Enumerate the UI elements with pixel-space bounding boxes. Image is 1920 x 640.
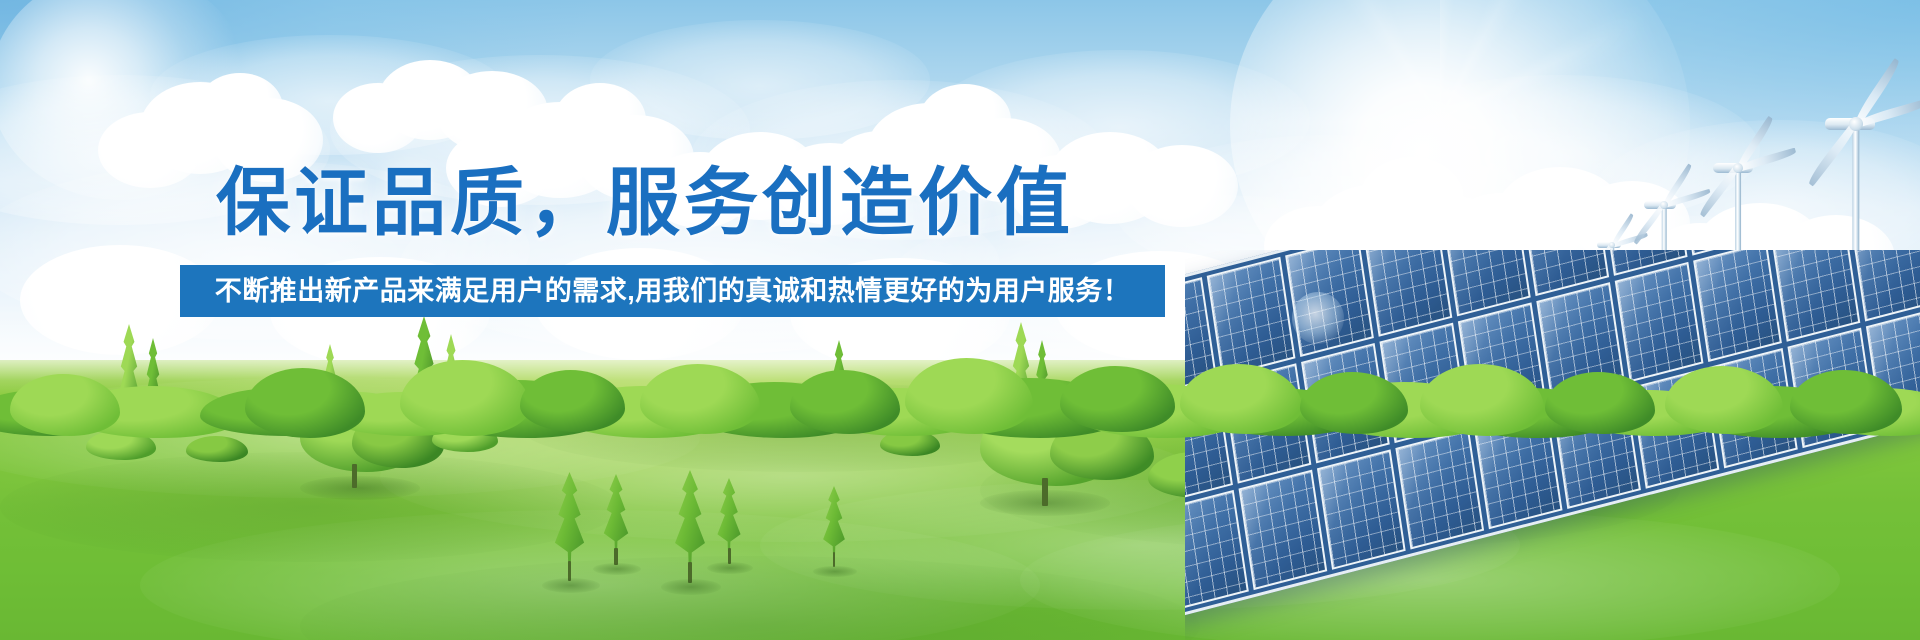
solar-panel-cell: [1615, 262, 1704, 382]
tree-canopy: [10, 374, 120, 436]
plant-shadow: [593, 563, 641, 576]
subtitle-bar: 不断推出新产品来满足用户的需求,用我们的真诚和热情更好的为用户服务！: [180, 265, 1165, 317]
plant-shadow: [813, 566, 857, 577]
solar-lens-flare-icon: [1292, 292, 1344, 344]
solar-panel-cell: [1207, 257, 1296, 377]
promotional-banner: 保证品质，服务创造价值 不断推出新产品来满足用户的需求,用我们的真诚和热情更好的…: [0, 0, 1920, 640]
solar-panel-cell: [1772, 250, 1861, 342]
tree-canopy: [905, 358, 1033, 434]
solar-panel-cell: [1364, 250, 1453, 337]
tree-trunk: [833, 552, 836, 567]
cloud-puff: [333, 83, 423, 153]
lawn-shadow: [0, 452, 620, 562]
cloud-puff: [554, 83, 646, 157]
tree-canopy: [640, 364, 760, 434]
turbine-hub: [1849, 117, 1863, 131]
page-title: 保证品质，服务创造价值: [0, 166, 1290, 240]
plant-shadow: [300, 476, 420, 500]
tree-canopy: [400, 360, 530, 436]
tree-canopy: [790, 370, 900, 434]
solar-panel-cell: [1317, 449, 1406, 569]
tree-canopy: [245, 368, 365, 438]
tree-canopy: [520, 370, 625, 432]
plant-shadow: [661, 579, 721, 595]
solar-panel-cell: [1395, 429, 1484, 549]
plant-shadow: [542, 578, 600, 593]
solar-panel-cell: [1185, 490, 1249, 610]
cloud-puff: [919, 84, 1011, 156]
meadow-shrub: [186, 436, 248, 462]
subtitle-text: 不断推出新产品来满足用户的需求,用我们的真诚和热情更好的为用户服务！: [215, 278, 1131, 305]
solar-panel-cell: [1693, 250, 1782, 362]
tree-trunk: [1042, 478, 1048, 506]
cloud-puff: [197, 73, 283, 143]
tree-trunk: [352, 464, 357, 488]
plant-shadow: [707, 562, 753, 574]
solar-panel-cell: [1850, 250, 1920, 321]
tree-canopy: [1060, 366, 1175, 432]
solar-panel-cell: [1239, 470, 1328, 590]
